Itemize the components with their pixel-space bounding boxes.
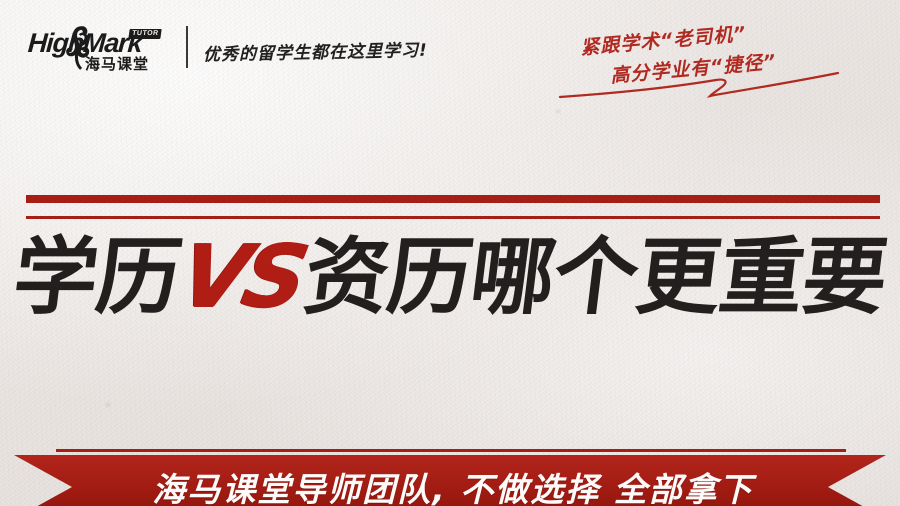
headline-vs: VS bbox=[171, 229, 314, 325]
poster-header: HighMark TUTOR 海马课堂 优秀的留学生都在这里学习! 紧跟学术“老… bbox=[0, 0, 900, 96]
logo-tutor-badge: TUTOR bbox=[128, 29, 162, 39]
highmark-logo[interactable]: HighMark TUTOR 海马课堂 bbox=[28, 28, 176, 74]
ribbon-top-rule bbox=[56, 449, 846, 452]
logo-chinese-name: 海马课堂 bbox=[85, 55, 149, 73]
divider-rule-thin bbox=[26, 216, 880, 219]
brand-tagline: 优秀的留学生都在这里学习! bbox=[203, 36, 428, 66]
divider-rule-thick bbox=[26, 195, 880, 203]
main-headline: 学历 VS 资历哪个更重要 bbox=[0, 225, 900, 329]
ribbon-body: 海马课堂导师团队, 不做选择 全部拿下 bbox=[14, 455, 886, 506]
ribbon-text: 海马课堂导师团队, 不做选择 全部拿下 bbox=[146, 463, 754, 506]
header-divider bbox=[186, 26, 188, 68]
swoosh-underline-icon bbox=[548, 66, 878, 100]
headline-part-2: 资历哪个更重要 bbox=[299, 229, 892, 325]
ribbon-banner: 海马课堂导师团队, 不做选择 全部拿下 bbox=[0, 449, 900, 506]
poster-canvas: HighMark TUTOR 海马课堂 优秀的留学生都在这里学习! 紧跟学术“老… bbox=[0, 0, 900, 506]
headline-part-1: 学历 bbox=[8, 229, 186, 325]
slogan-block: 紧跟学术“老司机” 高分学业有“捷径” bbox=[548, 20, 878, 92]
